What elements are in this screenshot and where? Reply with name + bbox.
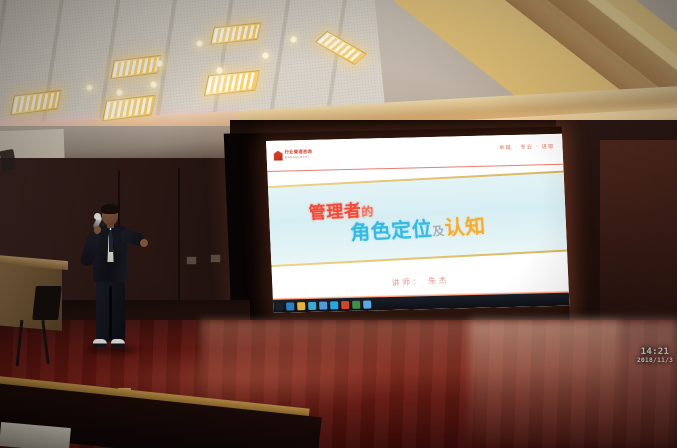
chair — [32, 286, 62, 320]
folder-explorer-icon[interactable] — [297, 302, 305, 310]
ceiling-downlight — [196, 40, 203, 47]
company-logo: 行业管理咨询 MANAGEMENT — [273, 150, 312, 161]
person-shoe-right — [111, 339, 125, 347]
person-shoe-left — [93, 339, 107, 347]
wps-writer-icon[interactable] — [352, 300, 360, 308]
title-gray: 及 — [432, 224, 445, 239]
slide-title-line-2: 角色定位及认知 — [349, 210, 486, 246]
start-icon[interactable] — [275, 302, 283, 310]
person-hair — [101, 204, 119, 214]
photo-viewer-icon[interactable] — [363, 300, 371, 308]
ceiling-downlight — [150, 81, 157, 88]
logo-mark-icon — [273, 151, 282, 161]
wall-panel-seam — [178, 168, 180, 318]
speaker-person — [76, 206, 148, 358]
title-gold: 认知 — [444, 214, 487, 240]
powerpoint-icon[interactable] — [341, 300, 349, 308]
ie-browser-icon[interactable] — [286, 302, 294, 310]
microphone-head-icon — [94, 213, 101, 220]
timestamp-date: 2018/11/3 — [637, 357, 673, 364]
projection-screen[interactable]: 行业管理咨询 MANAGEMENT 卓越 · 专业 · 进取 管理者的 角色定位… — [266, 134, 569, 313]
presentation-slide: 行业管理咨询 MANAGEMENT 卓越 · 专业 · 进取 管理者的 角色定位… — [266, 134, 569, 313]
ceiling-downlight — [156, 60, 163, 67]
slide-tagline: 卓越 · 专业 · 进取 — [499, 143, 555, 151]
ceiling-downlight — [262, 52, 269, 59]
ceiling-downlight — [116, 89, 123, 96]
media-player-icon[interactable] — [308, 301, 316, 309]
floor-reflection-screen — [470, 320, 677, 448]
ceiling-downlight — [216, 67, 223, 74]
slide-title: 管理者的 角色定位及认知 — [267, 178, 568, 265]
ceiling-downlight — [290, 36, 297, 43]
chrome-browser-icon[interactable] — [319, 301, 327, 309]
wall-outlet — [186, 256, 197, 265]
photo-scene: 行业管理咨询 MANAGEMENT 卓越 · 专业 · 进取 管理者的 角色定位… — [0, 0, 677, 448]
person-leg-gap — [109, 286, 112, 340]
ceiling-downlight — [86, 84, 93, 91]
slide-presenter-line: 讲师： 朱杰 — [272, 262, 569, 296]
camera-timestamp: 14:21 2018/11/3 — [637, 348, 673, 364]
wall-right-warm-light — [600, 140, 677, 340]
wall-outlet — [210, 254, 221, 263]
logo-text-secondary: MANAGEMENT — [285, 156, 313, 160]
qq-messenger-icon[interactable] — [330, 301, 338, 309]
presenter-name-text: 讲师： 朱杰 — [391, 276, 449, 288]
title-cyan: 角色定位 — [349, 217, 433, 245]
person-hand-right — [140, 239, 148, 247]
